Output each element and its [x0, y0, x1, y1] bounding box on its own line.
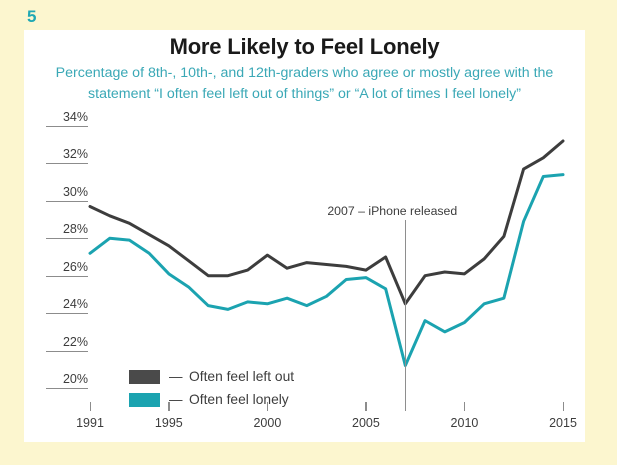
- plot-area: [24, 30, 585, 442]
- chart-panel: More Likely to Feel Lonely Percentage of…: [24, 30, 585, 442]
- x-axis-tick-0: 1991: [67, 416, 113, 430]
- legend-label-lonely: Often feel lonely: [189, 392, 289, 407]
- legend-item-left-out: — Often feel left out: [129, 369, 294, 384]
- legend-swatch-left-out: [129, 370, 160, 384]
- y-axis-tick-1: 32%: [46, 147, 88, 164]
- annotation-vertical-line: [405, 220, 406, 411]
- figure-root: 5 More Likely to Feel Lonely Percentage …: [0, 0, 617, 465]
- legend-swatch-lonely: [129, 393, 160, 407]
- legend-dash-left-out: —: [169, 370, 184, 384]
- x-axis-tick-3: 2005: [343, 416, 389, 430]
- annotation-label: 2007 – iPhone released: [327, 204, 457, 218]
- legend-item-lonely: — Often feel lonely: [129, 392, 289, 407]
- y-axis-tick-5: 24%: [46, 297, 88, 314]
- y-axis-tick-2: 30%: [46, 185, 88, 202]
- x-axis-tick-4: 2010: [441, 416, 487, 430]
- x-axis-tickmark-0: [90, 402, 91, 411]
- x-axis-tick-2: 2000: [244, 416, 290, 430]
- y-axis-tick-6: 22%: [46, 335, 88, 352]
- x-axis-tick-1: 1995: [146, 416, 192, 430]
- series-line: [90, 141, 563, 304]
- plot-svg: [24, 30, 585, 442]
- x-axis-tickmark-3: [365, 402, 366, 411]
- x-axis-tickmark-4: [464, 402, 465, 411]
- y-axis-tick-4: 26%: [46, 260, 88, 277]
- y-axis-tick-0: 34%: [46, 110, 88, 127]
- y-axis-tick-3: 28%: [46, 222, 88, 239]
- legend-dash-lonely: —: [169, 393, 184, 407]
- legend-label-left-out: Often feel left out: [189, 369, 294, 384]
- figure-number: 5: [27, 7, 36, 27]
- x-axis-tick-5: 2015: [540, 416, 586, 430]
- y-axis-tick-7: 20%: [46, 372, 88, 389]
- x-axis-tickmark-5: [563, 402, 564, 411]
